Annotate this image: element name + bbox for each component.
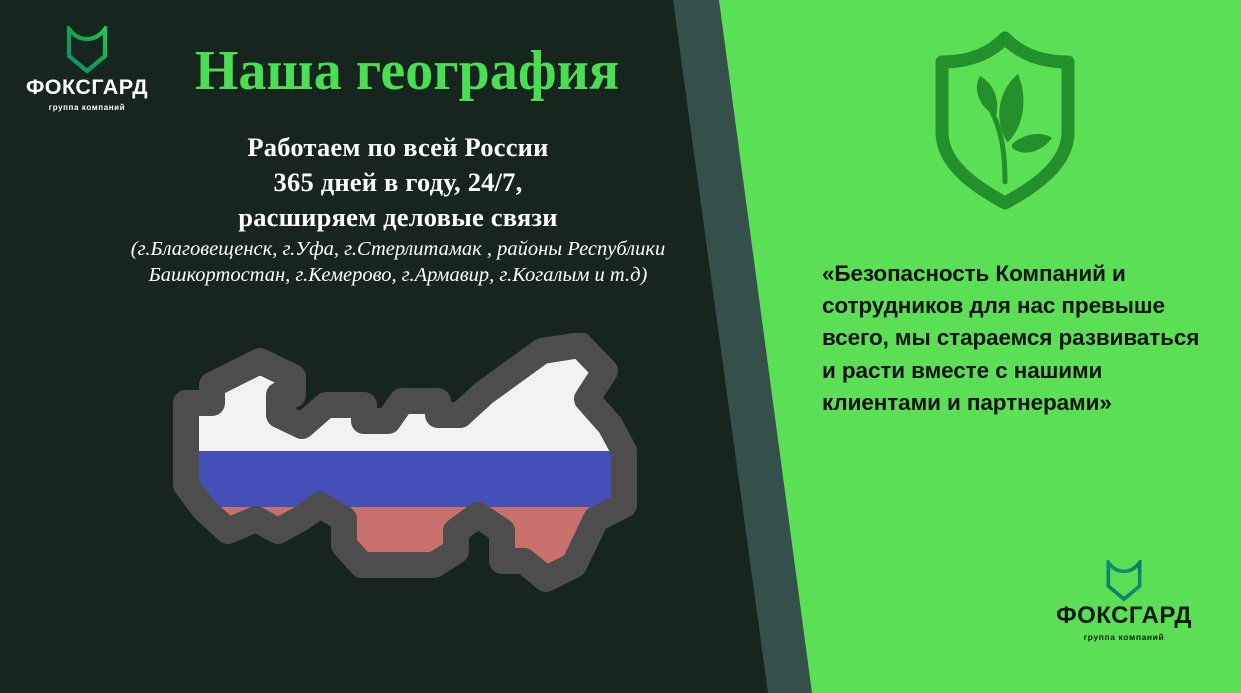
subtitle-line-2: 365 дней в году, 24/7, <box>98 165 698 200</box>
logo-wordmark: ФОКСГАРД <box>16 77 158 99</box>
logo-wordmark: ФОКСГАРД <box>1043 604 1205 628</box>
shield-icon <box>64 26 110 74</box>
subtitle-cities: (г.Благовещенск, г.Уфа, г.Стерлитамак , … <box>98 237 698 289</box>
shield-icon <box>1104 560 1144 602</box>
logo-tagline: группа компаний <box>1043 632 1205 642</box>
page-title: Наша география <box>172 42 642 101</box>
quote-text: «Безопасность Компаний и сотрудников для… <box>822 258 1214 419</box>
subtitle-line-1: Работаем по всей России <box>98 130 698 165</box>
subtitle-block: Работаем по всей России 365 дней в году,… <box>98 130 698 289</box>
logo-tagline: группа компаний <box>16 103 158 112</box>
logo-bottom-right: ФОКСГАРД группа компаний <box>1043 560 1205 642</box>
shield-plant-icon <box>920 28 1090 213</box>
logo-top-left: ФОКСГАРД группа компаний <box>16 26 158 112</box>
slide-root: ФОКСГАРД группа компаний Наша география … <box>0 0 1241 693</box>
subtitle-line-3: расширяем деловые связи <box>98 200 698 235</box>
russia-map-icon <box>150 333 650 618</box>
